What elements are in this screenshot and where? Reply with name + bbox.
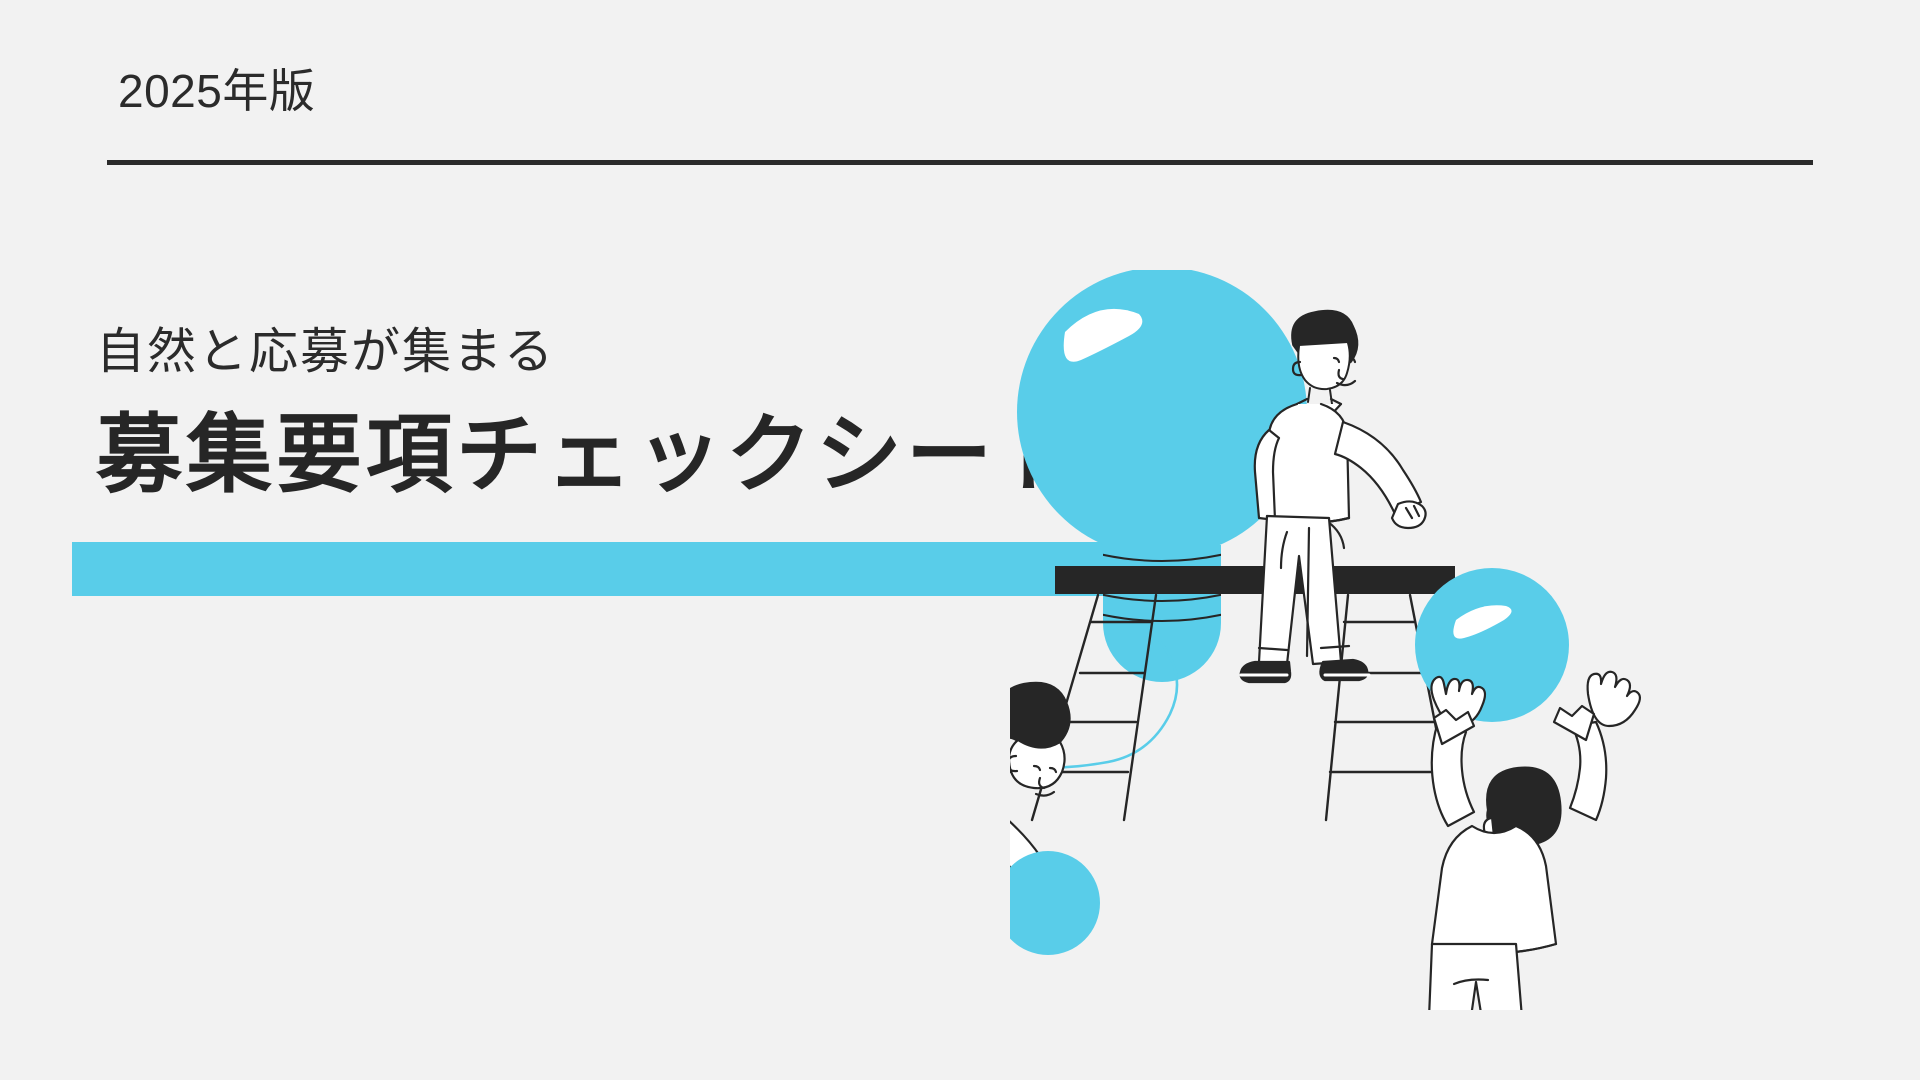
page-title: 募集要項チェックシート [96,408,1086,503]
small-cyan-ball [1010,851,1100,955]
hero-subtitle: 自然と応募が集まる [96,323,555,382]
people-building-lightbulb-illustration [1010,270,1920,1010]
worker-bending-with-ball [1010,683,1100,1010]
edition-label: 2025年版 [118,68,315,114]
header-divider [107,160,1813,165]
slide-canvas: 2025年版 自然と応募が集まる 募集要項チェックシート [0,0,1920,1080]
worker-lifting-ball [1408,672,1640,1010]
title-highlight-bar [72,542,1147,596]
